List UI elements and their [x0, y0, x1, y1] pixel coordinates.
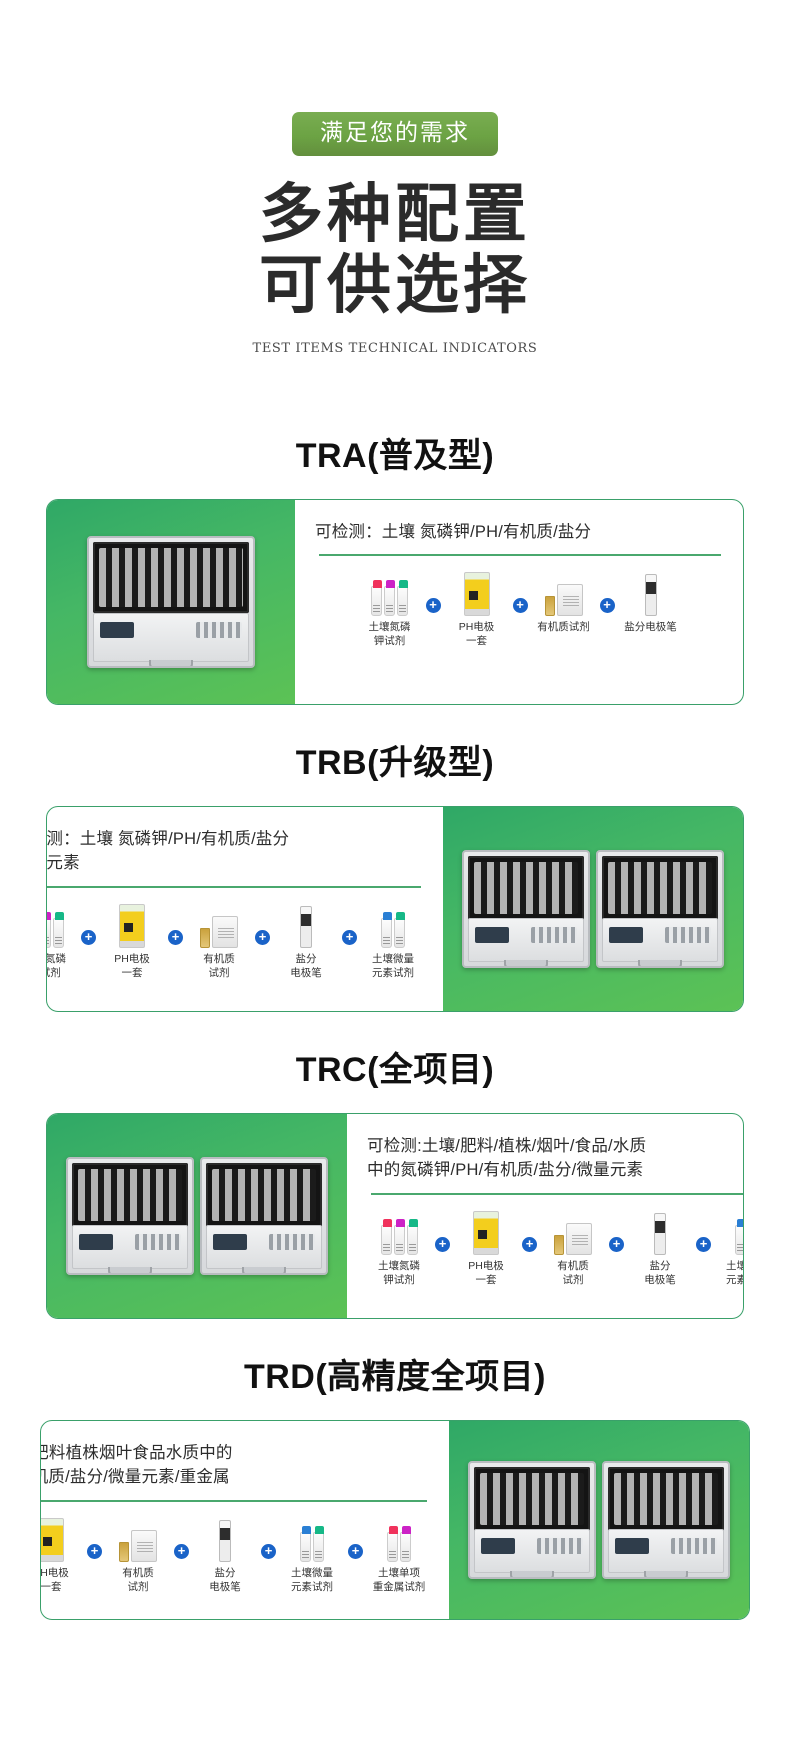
case-handle	[644, 1571, 688, 1579]
item-image	[300, 1516, 324, 1562]
item-image	[645, 570, 657, 616]
included-items-strip-trd: 土壤氮磷 钾试剂+PH电极 一套+有机质 试剂+盐分 电极笔+土壤微量 元素试剂…	[40, 1516, 431, 1603]
item-image	[219, 1516, 231, 1562]
section-tra: TRA(普及型)可检测：土壤 氮磷钾/PH/有机质/盐分土壤氮磷 钾试剂+PH电…	[0, 428, 790, 705]
plus-icon: +	[342, 930, 357, 945]
case-base	[72, 1225, 188, 1268]
reagent-bottle-icon	[53, 918, 64, 948]
item-image	[654, 1209, 666, 1255]
included-items-strip-trc: 土壤氮磷 钾试剂+PH电极 一套+有机质 试剂+盐分 电极笔+土壤微量 元素试剂	[367, 1209, 744, 1302]
reagent-bottle-icon	[381, 1225, 392, 1255]
product-sections: TRA(普及型)可检测：土壤 氮磷钾/PH/有机质/盐分土壤氮磷 钾试剂+PH电…	[0, 428, 790, 1620]
instrument-case-photo	[66, 1157, 194, 1275]
plus-icon: +	[168, 930, 183, 945]
page-title: 多种配置 可供选择	[0, 182, 790, 319]
product-card-trd[interactable]: 可检测：土壤肥料植株烟叶食品水质中的 氮磷钾/PH/有机质/盐分/微量元素/重金…	[40, 1420, 750, 1620]
included-item[interactable]: PH电极 一套	[100, 902, 164, 980]
plus-icon: +	[261, 1544, 276, 1559]
item-image	[381, 1209, 418, 1255]
plus-icon: +	[696, 1237, 711, 1252]
included-item[interactable]: 盐分电极笔	[619, 570, 683, 635]
info-pane-trb: 可检测：土壤 氮磷钾/PH/有机质/盐分 微量元素土壤氮磷 钾试剂+PH电极 一…	[46, 807, 443, 1011]
divider-rule	[319, 554, 721, 556]
section-title-trc: TRC(全项目)	[0, 1042, 790, 1091]
item-caption: PH电极 一套	[459, 621, 495, 648]
reagent-bottle-icon	[394, 1225, 405, 1255]
case-photo-group	[66, 1157, 328, 1275]
reagent-pouch-icon	[131, 1530, 157, 1562]
item-image	[119, 1516, 157, 1562]
included-item[interactable]: 有机质 试剂	[187, 902, 251, 980]
reagent-bottle-icon	[384, 586, 395, 616]
item-caption: 盐分 电极笔	[209, 1567, 241, 1594]
item-image	[387, 1516, 411, 1562]
product-card-trb[interactable]: 可检测：土壤 氮磷钾/PH/有机质/盐分 微量元素土壤氮磷 钾试剂+PH电极 一…	[46, 806, 744, 1012]
section-trc: TRC(全项目)可检测:土壤/肥料/植株/烟叶/食品/水质 中的氮磷钾/PH/有…	[0, 1042, 790, 1319]
included-item[interactable]: 土壤氮磷 钾试剂	[367, 1209, 431, 1287]
photo-pane-tra	[47, 500, 295, 704]
item-caption: 有机质 试剂	[557, 1260, 589, 1287]
case-lid	[474, 1467, 590, 1531]
card-wrap-trc: 可检测:土壤/肥料/植株/烟叶/食品/水质 中的氮磷钾/PH/有机质/盐分/微量…	[0, 1113, 790, 1319]
item-image	[119, 902, 145, 948]
reagent-vial-icon	[545, 596, 555, 616]
item-caption: 土壤氮磷 钾试剂	[46, 953, 66, 980]
reagent-vial-icon	[200, 928, 210, 948]
case-base	[608, 1529, 724, 1572]
photo-pane-trd	[449, 1421, 749, 1619]
salinity-pen-icon	[219, 1520, 231, 1562]
included-item[interactable]: 土壤微量 元素试剂	[361, 902, 425, 980]
section-trd: TRD(高精度全项目)可检测：土壤肥料植株烟叶食品水质中的 氮磷钾/PH/有机质…	[0, 1349, 790, 1620]
product-card-trc[interactable]: 可检测:土壤/肥料/植株/烟叶/食品/水质 中的氮磷钾/PH/有机质/盐分/微量…	[46, 1113, 744, 1319]
reagent-bottle-icon	[46, 918, 51, 948]
instrument-case-photo	[462, 850, 590, 968]
item-image	[300, 902, 312, 948]
reagent-bottle-icon	[735, 1225, 744, 1255]
included-items-strip-trb: 土壤氮磷 钾试剂+PH电极 一套+有机质 试剂+盐分 电极笔+土壤微量 元素试剂	[46, 902, 425, 995]
included-item[interactable]: 土壤微量 元素试剂	[280, 1516, 344, 1594]
reagent-bottle-icon	[300, 1532, 311, 1562]
instrument-case-photo	[468, 1461, 596, 1579]
case-base	[468, 918, 584, 961]
reagent-pouch-icon	[557, 584, 583, 616]
divider-rule	[40, 1500, 427, 1502]
instrument-case-photo	[87, 536, 255, 668]
case-base	[93, 613, 249, 662]
detect-capabilities-trd: 可检测：土壤肥料植株烟叶食品水质中的 氮磷钾/PH/有机质/盐分/微量元素/重金…	[40, 1441, 431, 1491]
item-image	[371, 570, 408, 616]
photo-pane-trc	[47, 1114, 347, 1318]
case-lid	[206, 1163, 322, 1227]
reagent-bottle-icon	[397, 586, 408, 616]
info-pane-trd: 可检测：土壤肥料植株烟叶食品水质中的 氮磷钾/PH/有机质/盐分/微量元素/重金…	[40, 1421, 449, 1619]
product-card-tra[interactable]: 可检测：土壤 氮磷钾/PH/有机质/盐分土壤氮磷 钾试剂+PH电极 一套+有机质…	[46, 499, 744, 705]
plus-icon: +	[255, 930, 270, 945]
card-wrap-tra: 可检测：土壤 氮磷钾/PH/有机质/盐分土壤氮磷 钾试剂+PH电极 一套+有机质…	[0, 499, 790, 705]
reagent-bottle-icon	[371, 586, 382, 616]
case-base	[206, 1225, 322, 1268]
item-image	[381, 902, 405, 948]
item-image	[735, 1209, 744, 1255]
included-item[interactable]: PH电极 一套	[445, 570, 509, 648]
item-caption: 土壤微量 元素试剂	[372, 953, 414, 980]
reagent-bottle-icon	[313, 1532, 324, 1562]
item-caption: PH电极 一套	[114, 953, 150, 980]
page-title-line-2: 可供选择	[0, 253, 790, 318]
photo-pane-trb	[443, 807, 743, 1011]
case-lid	[608, 1467, 724, 1531]
instrument-case-photo	[596, 850, 724, 968]
item-image	[545, 570, 583, 616]
included-item[interactable]: 盐分 电极笔	[628, 1209, 692, 1287]
included-item[interactable]: 土壤氮磷 钾试剂	[46, 902, 77, 980]
item-caption: 有机质 试剂	[122, 1567, 154, 1594]
section-title-trb: TRB(升级型)	[0, 735, 790, 784]
reagent-vial-icon	[119, 1542, 129, 1562]
item-caption: 土壤微量 元素试剂	[291, 1567, 333, 1594]
item-caption: 有机质 试剂	[203, 953, 235, 980]
item-caption: 盐分 电极笔	[290, 953, 322, 980]
card-wrap-trb: 可检测：土壤 氮磷钾/PH/有机质/盐分 微量元素土壤氮磷 钾试剂+PH电极 一…	[0, 806, 790, 1012]
reagent-bottle-icon	[381, 918, 392, 948]
detect-capabilities-trb: 可检测：土壤 氮磷钾/PH/有机质/盐分 微量元素	[46, 827, 425, 877]
plus-icon: +	[87, 1544, 102, 1559]
plus-icon: +	[174, 1544, 189, 1559]
hero-banner: 满足您的需求 多种配置 可供选择 TEST ITEMS TECHNICAL IN…	[0, 0, 790, 356]
case-base	[602, 918, 718, 961]
included-item[interactable]: 有机质 试剂	[106, 1516, 170, 1594]
item-caption: PH电极 一套	[40, 1567, 69, 1594]
case-base	[474, 1529, 590, 1572]
ph-electrode-kit-icon	[473, 1211, 499, 1255]
instrument-case-photo	[602, 1461, 730, 1579]
detect-capabilities-tra: 可检测：土壤 氮磷钾/PH/有机质/盐分	[315, 520, 725, 545]
bottom-spacer	[0, 1620, 790, 1672]
item-image	[464, 570, 490, 616]
divider-rule	[46, 886, 421, 888]
item-caption: 土壤氮磷 钾试剂	[369, 621, 411, 648]
item-image	[554, 1209, 592, 1255]
salinity-pen-icon	[654, 1213, 666, 1255]
section-trb: TRB(升级型)可检测：土壤 氮磷钾/PH/有机质/盐分 微量元素土壤氮磷 钾试…	[0, 735, 790, 1012]
ph-electrode-kit-icon	[40, 1518, 64, 1562]
page-title-line-1: 多种配置	[259, 177, 531, 252]
case-lid	[602, 856, 718, 920]
item-caption: 土壤微量 元素试剂	[726, 1260, 744, 1287]
reagent-vial-icon	[554, 1235, 564, 1255]
section-title-trd: TRD(高精度全项目)	[0, 1349, 790, 1398]
included-item[interactable]: 有机质试剂	[532, 570, 596, 635]
item-caption: 土壤单项 重金属试剂	[373, 1567, 426, 1594]
item-caption: 盐分电极笔	[624, 621, 677, 635]
case-handle	[504, 960, 548, 968]
reagent-pouch-icon	[566, 1223, 592, 1255]
included-item[interactable]: PH电极 一套	[454, 1209, 518, 1287]
salinity-pen-icon	[645, 574, 657, 616]
case-photo-group	[462, 850, 724, 968]
reagent-bottle-icon	[394, 918, 405, 948]
case-lid	[468, 856, 584, 920]
included-item[interactable]: 有机质 试剂	[541, 1209, 605, 1287]
case-handle	[108, 1267, 152, 1275]
included-items-strip-tra: 土壤氮磷 钾试剂+PH电极 一套+有机质试剂+盐分电极笔	[315, 570, 725, 687]
included-item[interactable]: 盐分 电极笔	[193, 1516, 257, 1594]
case-handle	[638, 960, 682, 968]
plus-icon: +	[426, 598, 441, 613]
reagent-bottle-icon	[407, 1225, 418, 1255]
hero-pill-badge: 满足您的需求	[292, 112, 498, 156]
plus-icon: +	[600, 598, 615, 613]
detect-capabilities-trc: 可检测:土壤/肥料/植株/烟叶/食品/水质 中的氮磷钾/PH/有机质/盐分/微量…	[367, 1134, 744, 1184]
page-subtitle-english: TEST ITEMS TECHNICAL INDICATORS	[0, 341, 790, 356]
reagent-bottle-icon	[387, 1532, 398, 1562]
item-image	[473, 1209, 499, 1255]
info-pane-tra: 可检测：土壤 氮磷钾/PH/有机质/盐分土壤氮磷 钾试剂+PH电极 一套+有机质…	[295, 500, 743, 704]
case-photo-group	[87, 536, 255, 668]
included-item[interactable]: 盐分 电极笔	[274, 902, 338, 980]
included-item[interactable]: 土壤微量 元素试剂	[715, 1209, 744, 1287]
included-item[interactable]: PH电极 一套	[40, 1516, 83, 1594]
reagent-pouch-icon	[212, 916, 238, 948]
plus-icon: +	[522, 1237, 537, 1252]
item-caption: 盐分 电极笔	[644, 1260, 676, 1287]
item-caption: 土壤氮磷 钾试剂	[378, 1260, 420, 1287]
item-caption: PH电极 一套	[468, 1260, 504, 1287]
item-image	[200, 902, 238, 948]
salinity-pen-icon	[300, 906, 312, 948]
instrument-case-photo	[200, 1157, 328, 1275]
section-title-tra: TRA(普及型)	[0, 428, 790, 477]
case-handle	[242, 1267, 286, 1275]
case-photo-group	[468, 1461, 730, 1579]
item-image	[40, 1516, 64, 1562]
plus-icon: +	[348, 1544, 363, 1559]
plus-icon: +	[513, 598, 528, 613]
included-item[interactable]: 土壤单项 重金属试剂	[367, 1516, 431, 1594]
case-lid	[72, 1163, 188, 1227]
plus-icon: +	[609, 1237, 624, 1252]
reagent-bottle-icon	[400, 1532, 411, 1562]
card-wrap-trd: 可检测：土壤肥料植株烟叶食品水质中的 氮磷钾/PH/有机质/盐分/微量元素/重金…	[0, 1420, 790, 1620]
ph-electrode-kit-icon	[119, 904, 145, 948]
item-image	[46, 902, 64, 948]
plus-icon: +	[435, 1237, 450, 1252]
case-lid	[93, 542, 249, 614]
ph-electrode-kit-icon	[464, 572, 490, 616]
case-handle	[510, 1571, 554, 1579]
case-handle	[149, 660, 193, 668]
divider-rule	[371, 1193, 744, 1195]
included-item[interactable]: 土壤氮磷 钾试剂	[358, 570, 422, 648]
info-pane-trc: 可检测:土壤/肥料/植株/烟叶/食品/水质 中的氮磷钾/PH/有机质/盐分/微量…	[347, 1114, 744, 1318]
plus-icon: +	[81, 930, 96, 945]
item-caption: 有机质试剂	[537, 621, 590, 635]
